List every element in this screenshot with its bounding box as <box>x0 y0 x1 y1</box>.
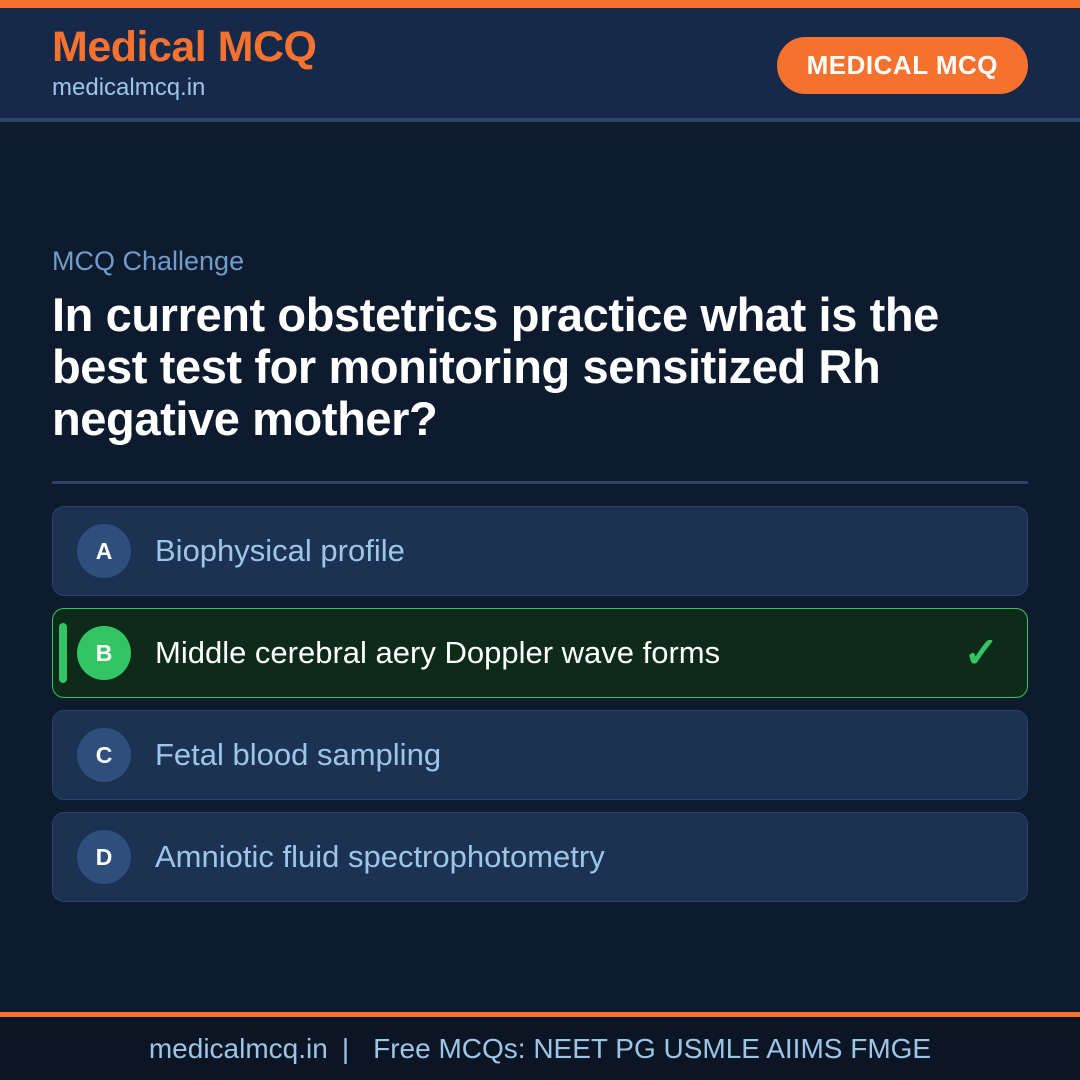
brand: Medical MCQ medicalmcq.in <box>52 25 317 105</box>
check-icon-b: ✓ <box>964 632 999 674</box>
brand-subtitle: medicalmcq.in <box>52 72 317 104</box>
option-letter-b: B <box>77 626 131 680</box>
option-label-a: Biophysical profile <box>155 534 1027 568</box>
footer-separator: | <box>328 1033 363 1064</box>
option-label-b: Middle cerebral aery Doppler wave forms <box>155 636 964 670</box>
eyebrow-label: MCQ Challenge <box>52 246 1028 277</box>
footer-text: medicalmcq.in|Free MCQs: NEET PG USMLE A… <box>149 1033 931 1065</box>
top-accent-bar <box>0 0 1080 8</box>
page-footer: medicalmcq.in|Free MCQs: NEET PG USMLE A… <box>0 1012 1080 1080</box>
footer-tagline: Free MCQs: NEET PG USMLE AIIMS FMGE <box>363 1033 931 1064</box>
page-header: Medical MCQ medicalmcq.in MEDICAL MCQ <box>0 8 1080 122</box>
option-row-c[interactable]: C Fetal blood sampling ✓ <box>52 710 1028 800</box>
option-letter-c: C <box>77 728 131 782</box>
option-row-b[interactable]: B Middle cerebral aery Doppler wave form… <box>52 608 1028 698</box>
section-divider <box>52 481 1028 484</box>
brand-badge: MEDICAL MCQ <box>777 37 1028 94</box>
footer-site[interactable]: medicalmcq.in <box>149 1033 328 1064</box>
option-row-d[interactable]: D Amniotic fluid spectrophotometry ✓ <box>52 812 1028 902</box>
option-letter-d: D <box>77 830 131 884</box>
question-text: In current obstetrics practice what is t… <box>52 289 952 445</box>
main-content: MCQ Challenge In current obstetrics prac… <box>0 122 1080 1012</box>
option-letter-a: A <box>77 524 131 578</box>
option-label-c: Fetal blood sampling <box>155 738 1027 772</box>
options-list: A Biophysical profile ✓ B Middle cerebra… <box>52 506 1028 902</box>
correct-accent-bar <box>59 623 67 683</box>
option-row-a[interactable]: A Biophysical profile ✓ <box>52 506 1028 596</box>
brand-title: Medical MCQ <box>52 25 317 70</box>
mcq-card: Medical MCQ medicalmcq.in MEDICAL MCQ MC… <box>0 0 1080 1080</box>
option-label-d: Amniotic fluid spectrophotometry <box>155 840 1027 874</box>
